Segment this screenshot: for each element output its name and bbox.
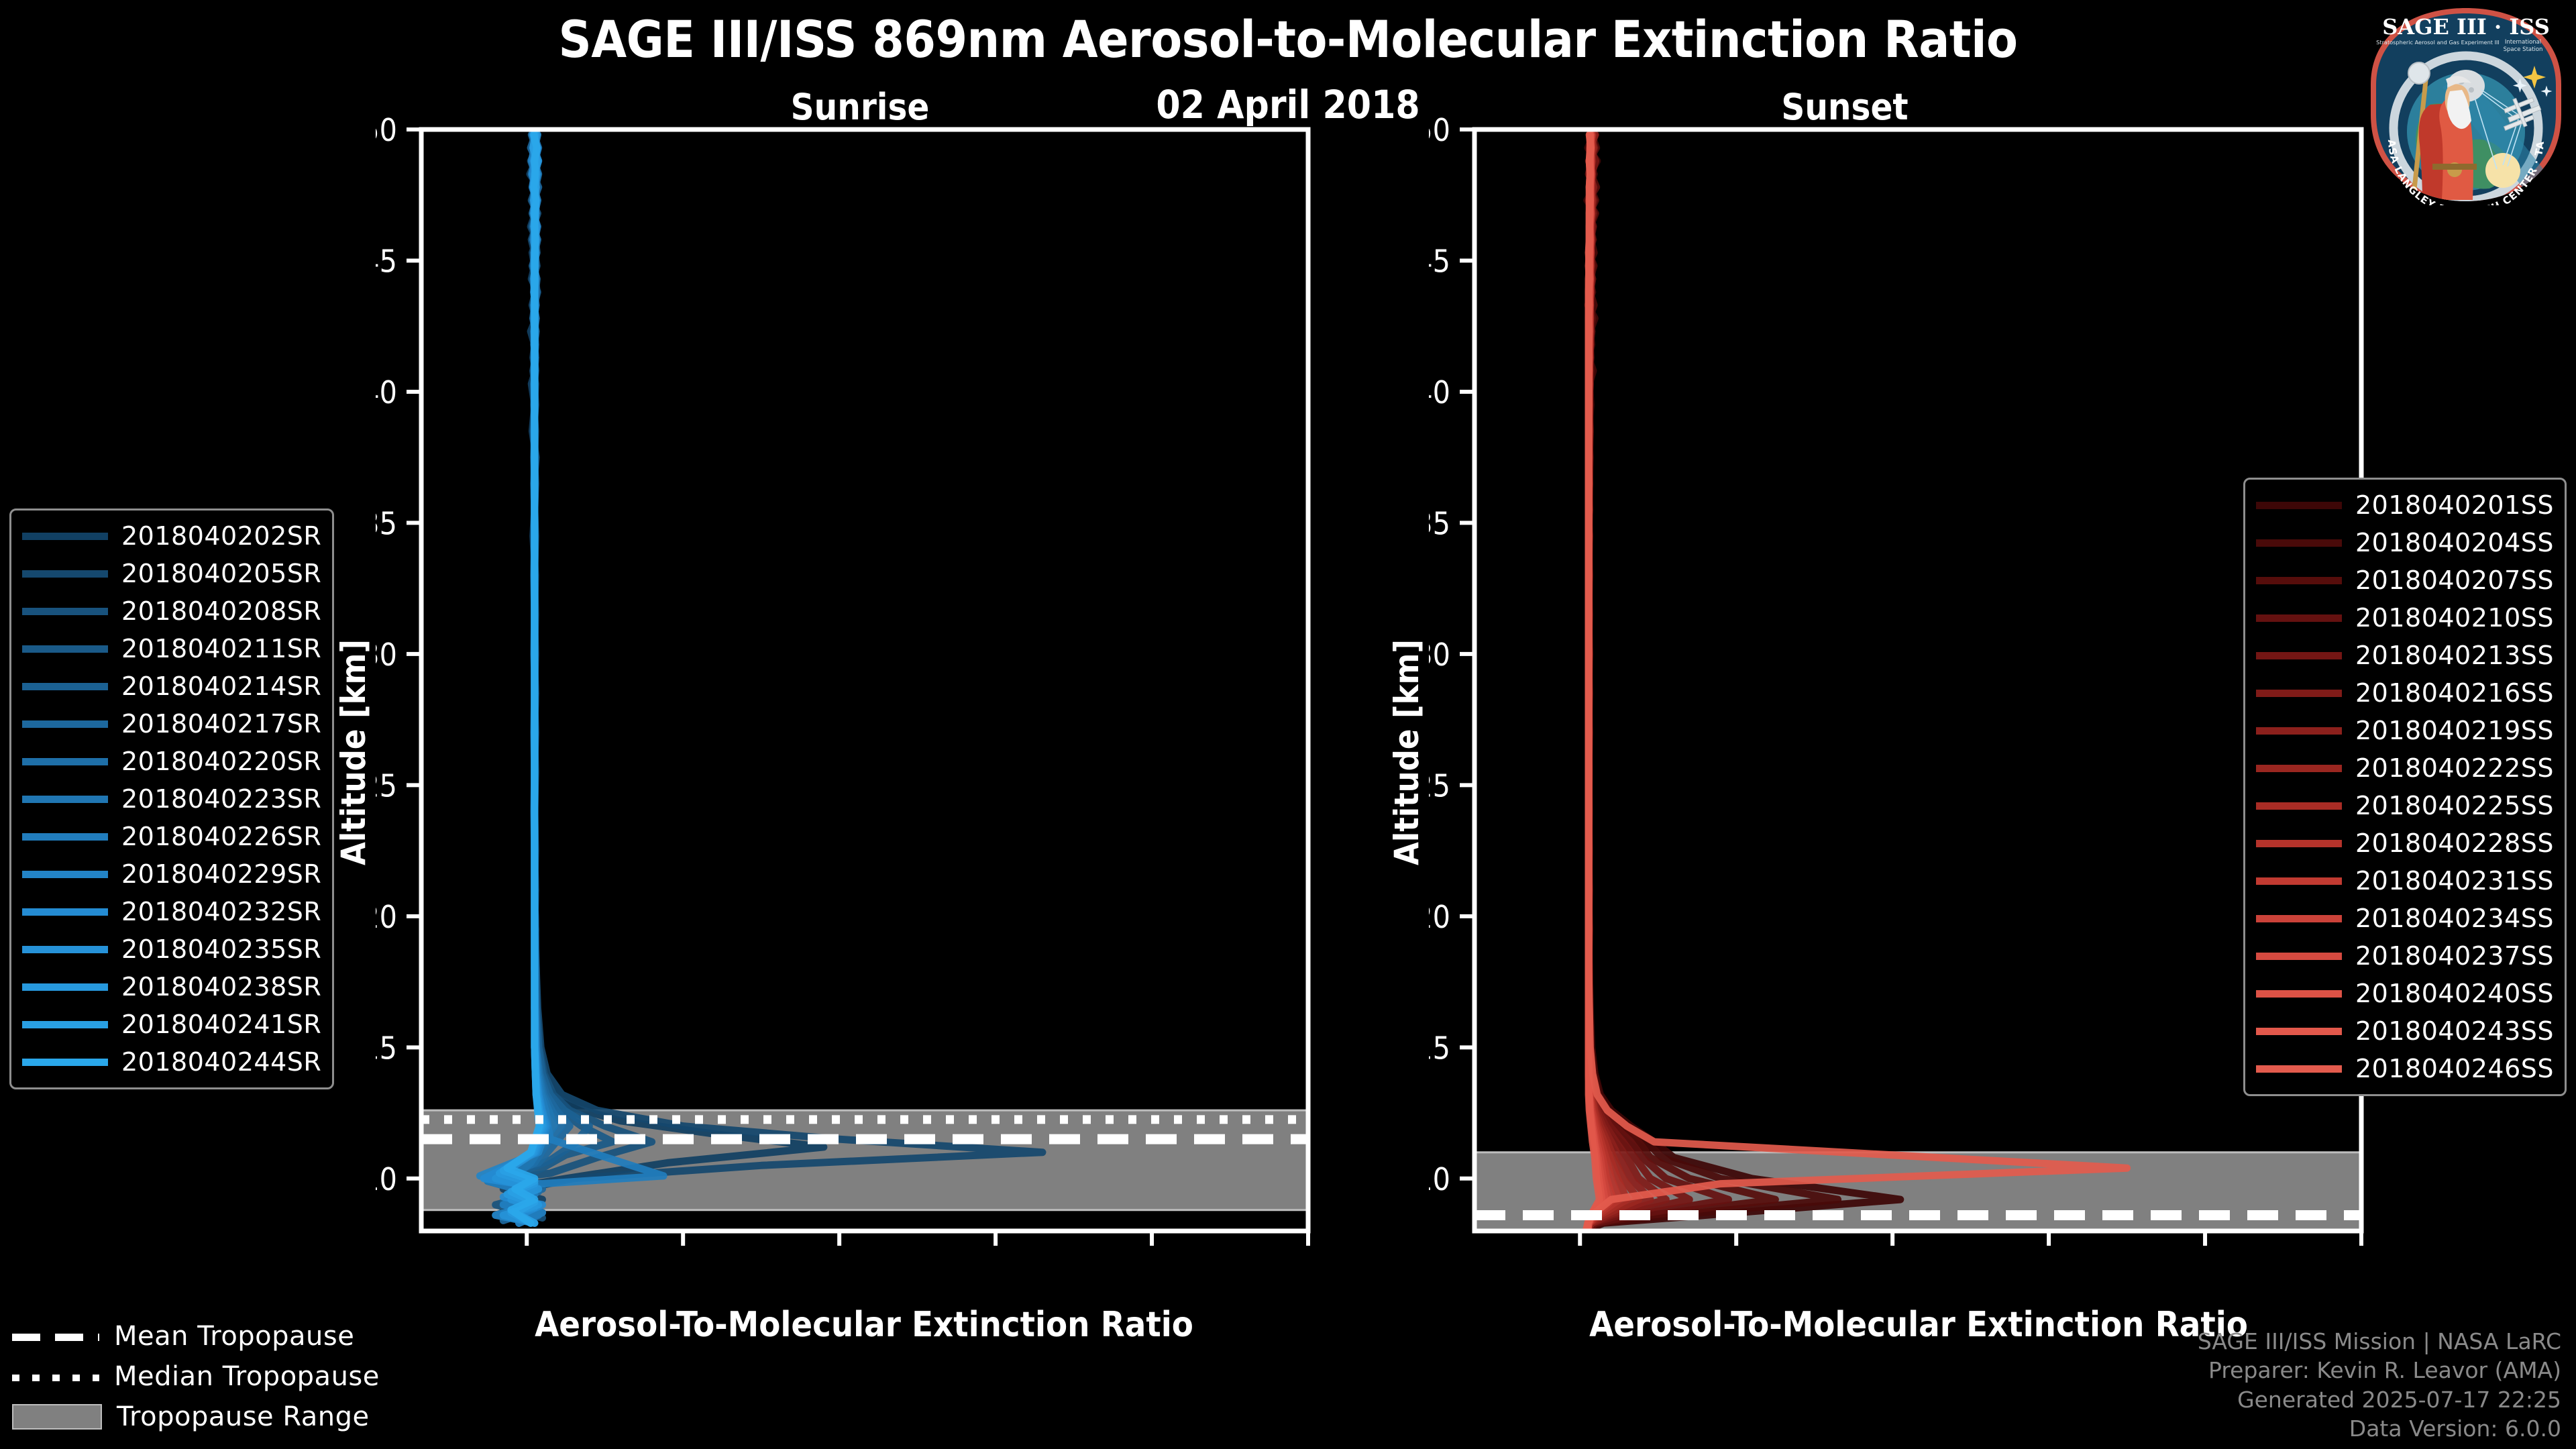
tropopause-legend-item[interactable]: Tropopause Range — [12, 1397, 380, 1437]
footer-line: Data Version: 6.0.0 — [2198, 1414, 2561, 1444]
series-line[interactable] — [1587, 135, 2127, 1230]
legend-item[interactable]: 2018040237SS — [2256, 937, 2554, 975]
sunrise-series-swatch — [22, 871, 108, 878]
y-tick-label: 30 — [1429, 637, 1450, 673]
series-line[interactable] — [503, 135, 612, 1218]
legend-item[interactable]: 2018040201SS — [2256, 486, 2554, 524]
legend-item[interactable]: 2018040217SR — [22, 705, 321, 743]
patch-subtitle-experiment: Stratospheric Aerosol and Gas Experiment… — [2376, 39, 2500, 46]
page-title: SAGE III/ISS 869nm Aerosol-to-Molecular … — [0, 9, 2576, 69]
series-line[interactable] — [1588, 135, 1689, 1230]
sunset-series-swatch — [2256, 727, 2342, 735]
sunset-series-swatch — [2256, 765, 2342, 772]
sunset-series-swatch — [2256, 990, 2342, 998]
sunset-series-swatch — [2256, 690, 2342, 697]
series-line[interactable] — [488, 135, 663, 1224]
legend-item-label: 2018040220SR — [121, 747, 321, 776]
legend-item[interactable]: 2018040244SR — [22, 1043, 321, 1081]
footer-line: SAGE III/ISS Mission | NASA LaRC — [2198, 1327, 2561, 1356]
legend-item-label: 2018040238SR — [121, 972, 321, 1002]
legend-item-label: 2018040222SS — [2355, 753, 2554, 783]
tropopause-legend[interactable]: Mean TropopauseMedian TropopauseTropopau… — [12, 1316, 380, 1437]
legend-item-label: 2018040234SS — [2355, 904, 2554, 933]
legend-item-label: 2018040241SR — [121, 1010, 321, 1039]
mean-tropopause-swatch — [12, 1329, 99, 1344]
sunrise-series-swatch — [22, 720, 108, 728]
y-tick-label: 35 — [1429, 505, 1450, 541]
legend-item-label: 2018040237SS — [2355, 941, 2554, 971]
legend-item[interactable]: 2018040211SR — [22, 630, 321, 667]
tropopause-legend-item[interactable]: Mean Tropopause — [12, 1316, 380, 1356]
y-tick-label: 50 — [376, 117, 397, 148]
legend-item-label: 2018040210SS — [2355, 603, 2554, 633]
plot-frame — [1474, 129, 2361, 1231]
sunrise-series-swatch — [22, 1059, 108, 1066]
sunrise-series-swatch — [22, 833, 108, 841]
legend-item[interactable]: 2018040225SS — [2256, 787, 2554, 824]
legend-item-label: 2018040231SS — [2355, 866, 2554, 896]
patch-title: SAGE III · ISS — [2382, 14, 2550, 40]
series-line[interactable] — [1588, 135, 1838, 1230]
legend-item[interactable]: 2018040231SS — [2256, 862, 2554, 900]
sunset-series-swatch — [2256, 915, 2342, 922]
y-tick-label: 35 — [376, 505, 397, 541]
legend-item-label: 2018040223SR — [121, 784, 321, 814]
plot-frame — [421, 129, 1308, 1231]
legend-item-label: 2018040205SR — [121, 559, 321, 588]
legend-item-label: 2018040211SR — [121, 634, 321, 663]
y-tick-label: 45 — [376, 243, 397, 279]
y-tick-label: 10 — [1429, 1161, 1450, 1197]
patch-subtitle-iss-2: Space Station — [2504, 46, 2543, 53]
sunrise-series-swatch — [22, 533, 108, 540]
legend-item-label: 2018040204SS — [2355, 528, 2554, 557]
series-line[interactable] — [503, 135, 1042, 1218]
sunrise-series-swatch — [22, 758, 108, 765]
series-line[interactable] — [1588, 135, 1776, 1230]
legend-item[interactable]: 2018040214SR — [22, 667, 321, 705]
legend-item[interactable]: 2018040216SS — [2256, 674, 2554, 712]
sunset-series-swatch — [2256, 539, 2342, 547]
y-tick-label: 20 — [376, 899, 397, 935]
legend-item[interactable]: 2018040243SS — [2256, 1012, 2554, 1050]
legend-item-label: 2018040232SR — [121, 897, 321, 926]
legend-item-label: 2018040214SR — [121, 672, 321, 701]
sunrise-plot[interactable]: 020406080100101520253035404550 — [376, 117, 1362, 1258]
sunset-series-swatch — [2256, 1028, 2342, 1035]
legend-item-label: 2018040208SR — [121, 596, 321, 626]
legend-item[interactable]: 2018040226SR — [22, 818, 321, 855]
legend-item-label: 2018040207SS — [2355, 566, 2554, 595]
sunset-yaxis-label: Altitude [km] — [1387, 639, 1426, 865]
legend-item[interactable]: 2018040229SR — [22, 855, 321, 893]
sunset-series-swatch — [2256, 652, 2342, 659]
legend-item[interactable]: 2018040234SS — [2256, 900, 2554, 937]
footer-line: Preparer: Kevin R. Leavor (AMA) — [2198, 1356, 2561, 1385]
legend-item[interactable]: 2018040232SR — [22, 893, 321, 930]
legend-item-label: 2018040201SS — [2355, 490, 2554, 520]
legend-item-label: 2018040225SS — [2355, 791, 2554, 820]
sunrise-series-swatch — [22, 570, 108, 578]
sunrise-series-swatch — [22, 645, 108, 653]
legend-item[interactable]: 2018040240SS — [2256, 975, 2554, 1012]
legend-item[interactable]: 2018040235SR — [22, 930, 321, 968]
sunrise-series-swatch — [22, 946, 108, 953]
sunset-event-legend[interactable]: 2018040201SS2018040204SS2018040207SS2018… — [2243, 478, 2567, 1096]
legend-item-label: 2018040202SR — [121, 521, 321, 551]
sunrise-series-swatch — [22, 983, 108, 991]
legend-item-label: 2018040228SS — [2355, 828, 2554, 858]
tropopause-legend-label: Mean Tropopause — [114, 1321, 354, 1352]
sunset-series-swatch — [2256, 502, 2342, 509]
footer-line: Generated 2025-07-17 22:25 — [2198, 1385, 2561, 1415]
sunrise-series-swatch — [22, 608, 108, 615]
legend-item-label: 2018040240SS — [2355, 979, 2554, 1008]
tropopause-legend-label: Median Tropopause — [114, 1361, 380, 1392]
sunset-series-swatch — [2256, 877, 2342, 885]
y-tick-label: 50 — [1429, 117, 1450, 148]
sunrise-event-legend[interactable]: 2018040202SR2018040205SR2018040208SR2018… — [9, 508, 334, 1089]
sunrise-xaxis-label: Aerosol-To-Molecular Extinction Ratio — [421, 1305, 1307, 1345]
sunrise-series-swatch — [22, 796, 108, 803]
legend-item[interactable]: 2018040205SR — [22, 555, 321, 592]
sunset-series-swatch — [2256, 614, 2342, 622]
sunrise-yaxis-label: Altitude [km] — [334, 639, 373, 865]
legend-item[interactable]: 2018040208SR — [22, 592, 321, 630]
legend-item[interactable]: 2018040202SR — [22, 517, 321, 555]
legend-item-label: 2018040229SR — [121, 859, 321, 889]
y-tick-label: 25 — [376, 767, 397, 804]
legend-item[interactable]: 2018040241SR — [22, 1006, 321, 1043]
series-line[interactable] — [1588, 135, 1666, 1230]
series-line[interactable] — [507, 135, 539, 1224]
footer-credits: SAGE III/ISS Mission | NASA LaRCPreparer… — [2198, 1327, 2561, 1444]
y-tick-label: 20 — [1429, 899, 1450, 935]
legend-item[interactable]: 2018040223SR — [22, 780, 321, 818]
y-tick-label: 10 — [376, 1161, 397, 1197]
legend-item[interactable]: 2018040210SS — [2256, 599, 2554, 637]
legend-item-label: 2018040226SR — [121, 822, 321, 851]
legend-item[interactable]: 2018040246SS — [2256, 1050, 2554, 1087]
y-tick-label: 45 — [1429, 243, 1450, 279]
legend-item[interactable]: 2018040219SS — [2256, 712, 2554, 749]
legend-item-label: 2018040217SR — [121, 709, 321, 739]
sunset-series-swatch — [2256, 802, 2342, 810]
series-line[interactable] — [1588, 135, 1729, 1230]
sunset-series-swatch — [2256, 953, 2342, 960]
legend-item-label: 2018040216SS — [2355, 678, 2554, 708]
legend-item[interactable]: 2018040213SS — [2256, 637, 2554, 674]
sunrise-series-swatch — [22, 908, 108, 916]
sunrise-series-swatch — [22, 1021, 108, 1028]
y-tick-label: 25 — [1429, 767, 1450, 804]
legend-item[interactable]: 2018040207SS — [2256, 561, 2554, 599]
legend-item-label: 2018040213SS — [2355, 641, 2554, 670]
legend-item-label: 2018040235SR — [121, 934, 321, 964]
sunset-series-swatch — [2256, 1065, 2342, 1073]
series-line[interactable] — [1587, 135, 1900, 1230]
legend-item-label: 2018040243SS — [2355, 1016, 2554, 1046]
legend-item-label: 2018040246SS — [2355, 1054, 2554, 1083]
legend-item-label: 2018040219SS — [2355, 716, 2554, 745]
tropopause-range-swatch — [12, 1404, 102, 1430]
legend-item-label: 2018040244SR — [121, 1047, 321, 1077]
median-tropopause-swatch — [12, 1369, 99, 1384]
legend-item[interactable]: 2018040222SS — [2256, 749, 2554, 787]
tropopause-legend-label: Tropopause Range — [117, 1401, 370, 1432]
tropopause-legend-item[interactable]: Median Tropopause — [12, 1356, 380, 1397]
series-line[interactable] — [488, 135, 652, 1218]
y-tick-label: 40 — [1429, 374, 1450, 411]
sunset-series-swatch — [2256, 577, 2342, 584]
sunset-series-swatch — [2256, 840, 2342, 847]
legend-item[interactable]: 2018040238SR — [22, 968, 321, 1006]
y-tick-label: 15 — [376, 1030, 397, 1066]
sunrise-series-swatch — [22, 683, 108, 690]
y-tick-label: 30 — [376, 637, 397, 673]
legend-item[interactable]: 2018040204SS — [2256, 524, 2554, 561]
y-tick-label: 15 — [1429, 1030, 1450, 1066]
y-tick-label: 40 — [376, 374, 397, 411]
patch-subtitle-iss-1: International — [2505, 39, 2541, 46]
legend-item[interactable]: 2018040220SR — [22, 743, 321, 780]
legend-item[interactable]: 2018040228SS — [2256, 824, 2554, 862]
